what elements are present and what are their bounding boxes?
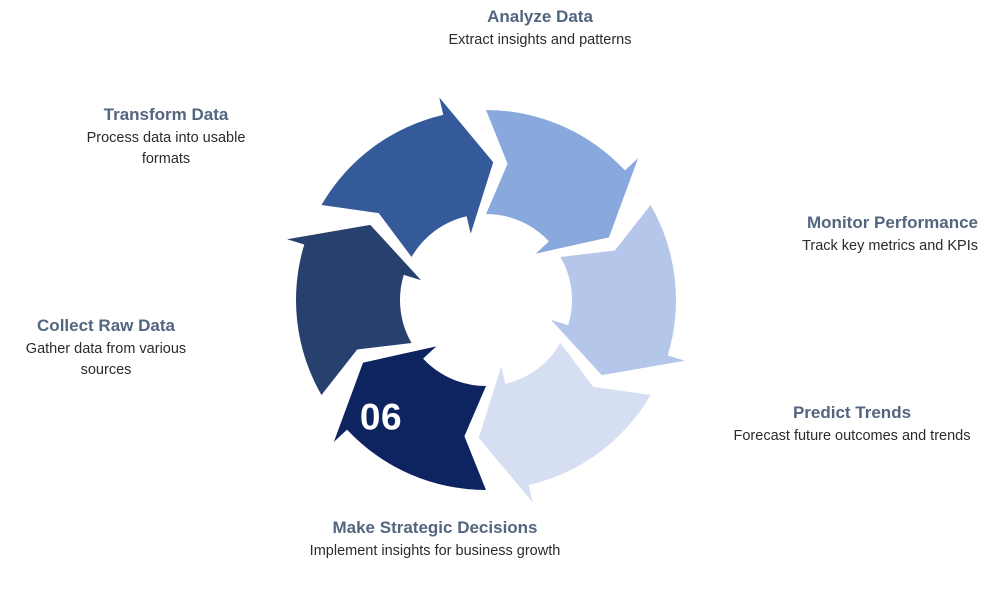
step-description-analyze-data: Extract insights and patterns xyxy=(390,30,690,51)
step-label-02: Transform DataProcess data into usable f… xyxy=(68,104,264,169)
process-cycle-diagram: 010203040506 Collect Raw DataGather data… xyxy=(0,0,1000,595)
step-title-analyze-data: Analyze Data xyxy=(390,6,690,28)
step-description-transform-data: Process data into usable formats xyxy=(68,128,264,169)
step-title-predict-trends: Predict Trends xyxy=(726,402,978,424)
cycle-arrow-ring: 010203040506 xyxy=(0,0,1000,595)
step-description-monitor-performance: Track key metrics and KPIs xyxy=(716,236,978,257)
step-title-monitor-performance: Monitor Performance xyxy=(716,212,978,234)
segment-arrow-shape-01 xyxy=(334,346,486,490)
segment-number-06: 06 xyxy=(360,397,402,438)
step-label-06: Make Strategic DecisionsImplement insigh… xyxy=(300,517,570,562)
step-description-make-strategic-decisions: Implement insights for business growth xyxy=(300,541,570,562)
step-title-transform-data: Transform Data xyxy=(68,104,264,126)
step-label-03: Analyze DataExtract insights and pattern… xyxy=(390,6,690,51)
step-label-04: Monitor PerformanceTrack key metrics and… xyxy=(716,212,978,257)
step-label-05: Predict TrendsForecast future outcomes a… xyxy=(726,402,978,447)
step-title-collect-raw-data: Collect Raw Data xyxy=(8,315,204,337)
step-description-collect-raw-data: Gather data from various sources xyxy=(8,339,204,380)
segment-arrow-shape-04 xyxy=(486,110,638,254)
step-description-predict-trends: Forecast future outcomes and trends xyxy=(726,426,978,447)
step-title-make-strategic-decisions: Make Strategic Decisions xyxy=(300,517,570,539)
step-label-01: Collect Raw DataGather data from various… xyxy=(8,315,204,380)
